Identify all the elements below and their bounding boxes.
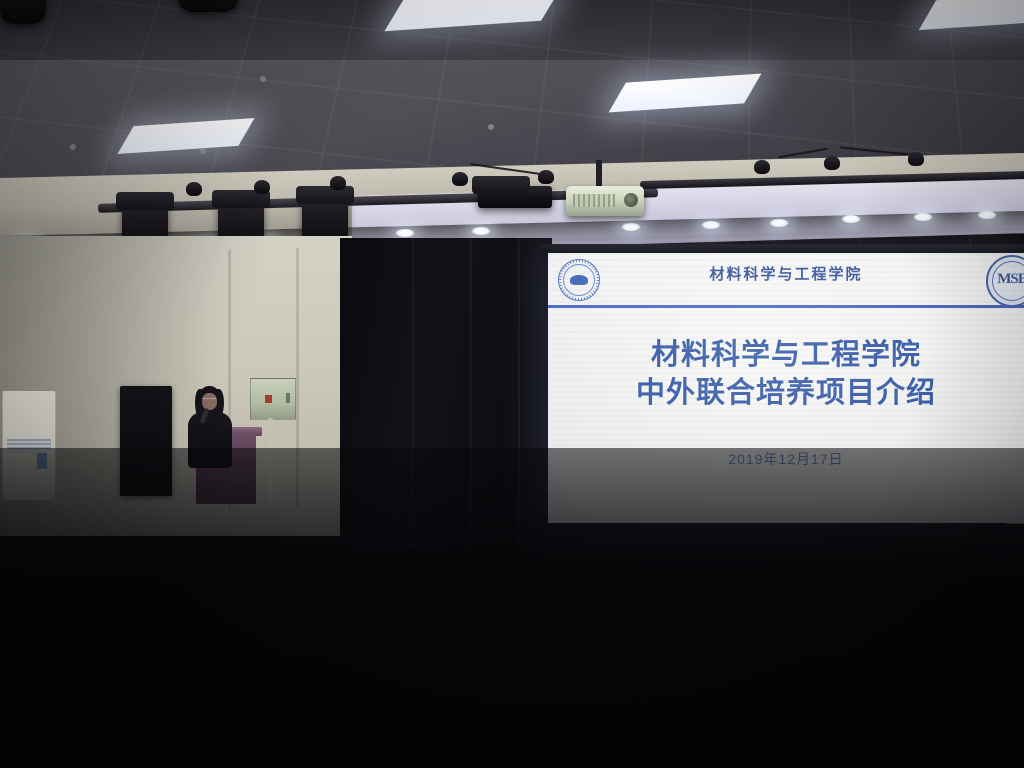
seated-audience	[0, 448, 1024, 768]
bar-light-fixture	[478, 186, 552, 208]
warning-label-icon	[265, 395, 272, 403]
sprinkler-head-icon	[488, 124, 494, 130]
projector-mount	[596, 160, 602, 188]
spot-light	[538, 170, 554, 184]
spot-light	[824, 156, 840, 170]
glasses-icon	[203, 398, 216, 403]
recessed-downlight	[840, 214, 862, 224]
ceiling-projector	[566, 186, 644, 216]
hanging-speaker	[178, 0, 238, 12]
recessed-downlight	[912, 212, 934, 222]
spot-light	[754, 160, 770, 174]
sprinkler-head-icon	[70, 144, 76, 150]
recessed-downlight	[620, 222, 642, 232]
spot-light	[452, 172, 468, 186]
spot-light	[186, 182, 202, 196]
cabinet-latch-icon	[286, 393, 290, 403]
lecture-hall-photo: 材料科学与工程学院 MSE 材料科学与工程学院 中外联合培养项目介绍 2019年…	[0, 0, 1024, 768]
recessed-downlight	[700, 220, 722, 230]
spot-light	[330, 176, 346, 190]
projector-vent	[573, 194, 615, 207]
recessed-downlight	[470, 226, 492, 236]
sprinkler-head-icon	[200, 148, 206, 154]
sprinkler-head-icon	[260, 76, 266, 82]
spot-light	[254, 180, 270, 194]
hanging-speaker	[0, 0, 46, 24]
recessed-downlight	[976, 210, 998, 220]
wall-electrical-cabinet	[250, 378, 296, 420]
recessed-downlight	[768, 218, 790, 228]
projector-lens-icon	[624, 193, 638, 207]
spot-light	[908, 152, 924, 166]
recessed-downlight	[394, 228, 416, 238]
audience-darkness	[0, 448, 1024, 768]
